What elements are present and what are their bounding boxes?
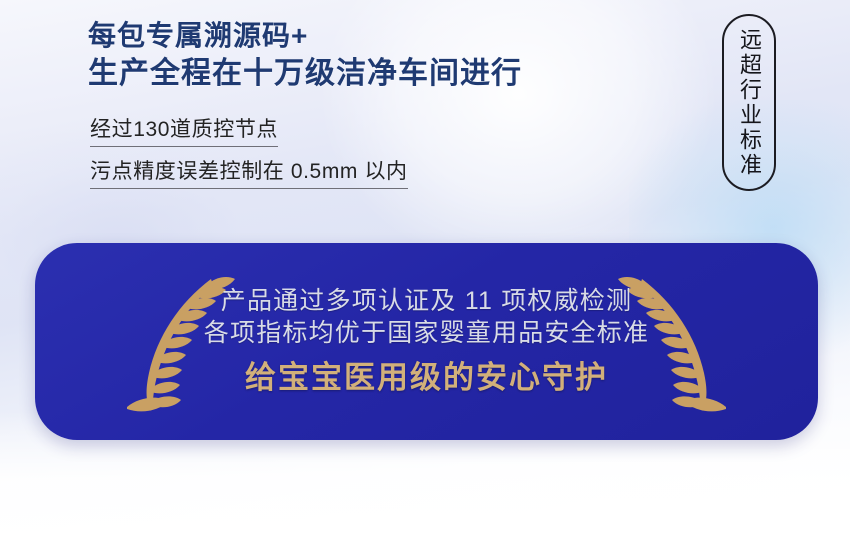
award-banner: 产品通过多项认证及 11 项权威检测 各项指标均优于国家婴童用品安全标准 给宝宝…	[35, 243, 818, 440]
award-banner-line-1: 产品通过多项认证及 11 项权威检测	[204, 285, 649, 318]
sub-line-quality-checkpoints: 经过130道质控节点	[90, 116, 278, 147]
headline-block: 每包专属溯源码+ 生产全程在十万级洁净车间进行	[88, 18, 688, 93]
award-banner-line-3: 给宝宝医用级的安心守护	[204, 358, 649, 398]
vertical-standard-badge: 远超行业标准	[722, 14, 776, 191]
headline-line-1: 每包专属溯源码+	[88, 18, 688, 54]
award-banner-line-2: 各项指标均优于国家婴童用品安全标准	[204, 317, 649, 350]
headline-line-2: 生产全程在十万级洁净车间进行	[88, 54, 688, 93]
sub-lines-block: 经过130道质控节点 污点精度误差控制在 0.5mm 以内	[90, 116, 710, 200]
promo-canvas: 每包专属溯源码+ 生产全程在十万级洁净车间进行 经过130道质控节点 污点精度误…	[0, 0, 850, 556]
vertical-standard-badge-label: 远超行业标准	[738, 28, 760, 178]
award-banner-text: 产品通过多项认证及 11 项权威检测 各项指标均优于国家婴童用品安全标准 给宝宝…	[204, 285, 649, 398]
sub-line-precision-tolerance: 污点精度误差控制在 0.5mm 以内	[90, 158, 408, 189]
